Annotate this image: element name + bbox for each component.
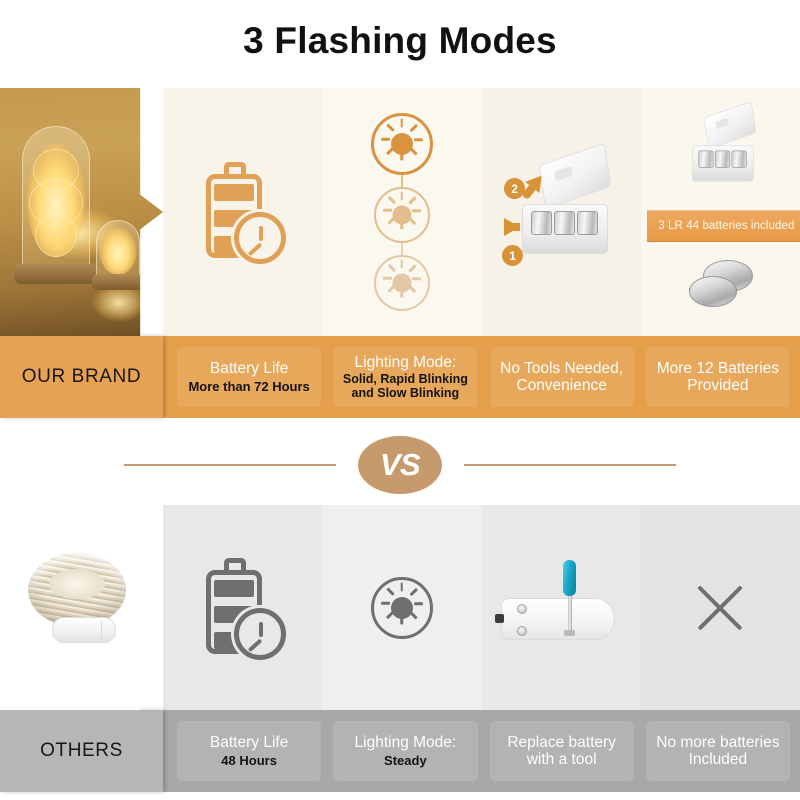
step-1-arrow-icon [504, 218, 520, 236]
brand-feature-0-title: Battery Life [210, 360, 288, 377]
others-icon-cell-none [641, 505, 800, 710]
battery-box-lid [539, 143, 612, 210]
others-feature-2: Replace battery with a tool [490, 721, 634, 781]
battery-box-base [522, 204, 608, 254]
vs-line-right [464, 464, 676, 466]
others-icon-cell-tool [482, 505, 641, 710]
brand-icon-cell-no-tools: 1 2 [482, 88, 641, 336]
single-steady-sun-icon [371, 577, 433, 639]
vs-badge: VS [358, 436, 442, 494]
brand-feature-1: Lighting Mode: Solid, Rapid Blinking and… [333, 347, 477, 407]
others-name-tag: OTHERS [0, 710, 163, 792]
battery-clock-icon [200, 160, 286, 264]
our-brand-block: 1 2 [0, 88, 800, 418]
others-feature-3: No more batteries Included [646, 721, 790, 781]
others-feature-0-sub: 48 Hours [221, 754, 277, 768]
brand-feature-row: 1 2 [0, 88, 800, 336]
battery-pack-screwdriver-icon [495, 560, 627, 656]
dome-glow-small [100, 228, 137, 274]
glass-dome-large [22, 126, 90, 270]
brand-feature-2-title: No Tools Needed, Convenience [494, 360, 630, 395]
brand-feature-3: More 12 Batteries Provided [646, 347, 790, 407]
battery-box-and-coin-cells-icon [674, 108, 768, 194]
battery-clock-icon [200, 556, 286, 660]
brand-label-bar: OUR BRAND Battery Life More than 72 Hour… [0, 336, 800, 418]
brand-name-tag: OUR BRAND [0, 336, 163, 418]
x-cross-icon [690, 578, 750, 638]
brand-icon-cell-batteries: 3 LR 44 batteries included [641, 88, 800, 336]
brand-feature-0: Battery Life More than 72 Hours [177, 347, 321, 407]
others-feature-0-title: Battery Life [210, 734, 288, 751]
others-feature-3-title: No more batteries Included [650, 734, 786, 769]
battery-box-open-steps-icon: 1 2 [496, 152, 626, 272]
comparison-infographic: 3 Flashing Modes [0, 0, 800, 800]
others-label-bar: OTHERS Battery Life 48 Hours Lighting Mo… [0, 710, 800, 792]
brand-feature-2: No Tools Needed, Convenience [490, 347, 634, 407]
others-icon-cell-battery [163, 505, 322, 710]
vs-line-left [124, 464, 336, 466]
others-feature-row [0, 505, 800, 710]
brand-feature-1-title: Lighting Mode: [355, 354, 457, 371]
coin-cell-batteries [685, 260, 755, 312]
others-feature-1: Lighting Mode: Steady [333, 721, 477, 781]
banner-text: 3 LR 44 batteries included [658, 220, 794, 232]
others-feature-2-title: Replace battery with a tool [494, 734, 630, 769]
dome-base-small [92, 274, 144, 290]
vs-divider: VS [0, 432, 800, 498]
others-feature-0: Battery Life 48 Hours [177, 721, 321, 781]
others-icon-cell-mode [322, 505, 481, 710]
screwdriver-handle [563, 560, 576, 596]
dome-base-large [14, 264, 98, 284]
step-badge-1: 1 [502, 245, 523, 266]
page-title: 3 Flashing Modes [0, 20, 800, 62]
brand-icon-cell-battery [163, 88, 322, 336]
brand-product-photo [0, 88, 163, 336]
glass-dome-small [96, 220, 140, 280]
batteries-included-banner: 3 LR 44 batteries included [647, 210, 800, 242]
others-block: OTHERS Battery Life 48 Hours Lighting Mo… [0, 505, 800, 800]
others-product-photo [0, 505, 163, 710]
step-badge-2: 2 [504, 178, 525, 199]
brand-icon-cell-modes [322, 88, 481, 336]
three-flashing-suns-icon [371, 113, 433, 311]
others-feature-1-sub: Steady [384, 754, 427, 768]
others-feature-1-title: Lighting Mode: [355, 734, 457, 751]
battery-pack-white [52, 617, 116, 643]
brand-feature-0-sub: More than 72 Hours [188, 380, 309, 394]
brand-feature-3-title: More 12 Batteries Provided [650, 360, 786, 395]
fairy-light-coil [28, 553, 126, 627]
brand-feature-1-sub: Solid, Rapid Blinking and Slow Blinking [337, 373, 473, 401]
